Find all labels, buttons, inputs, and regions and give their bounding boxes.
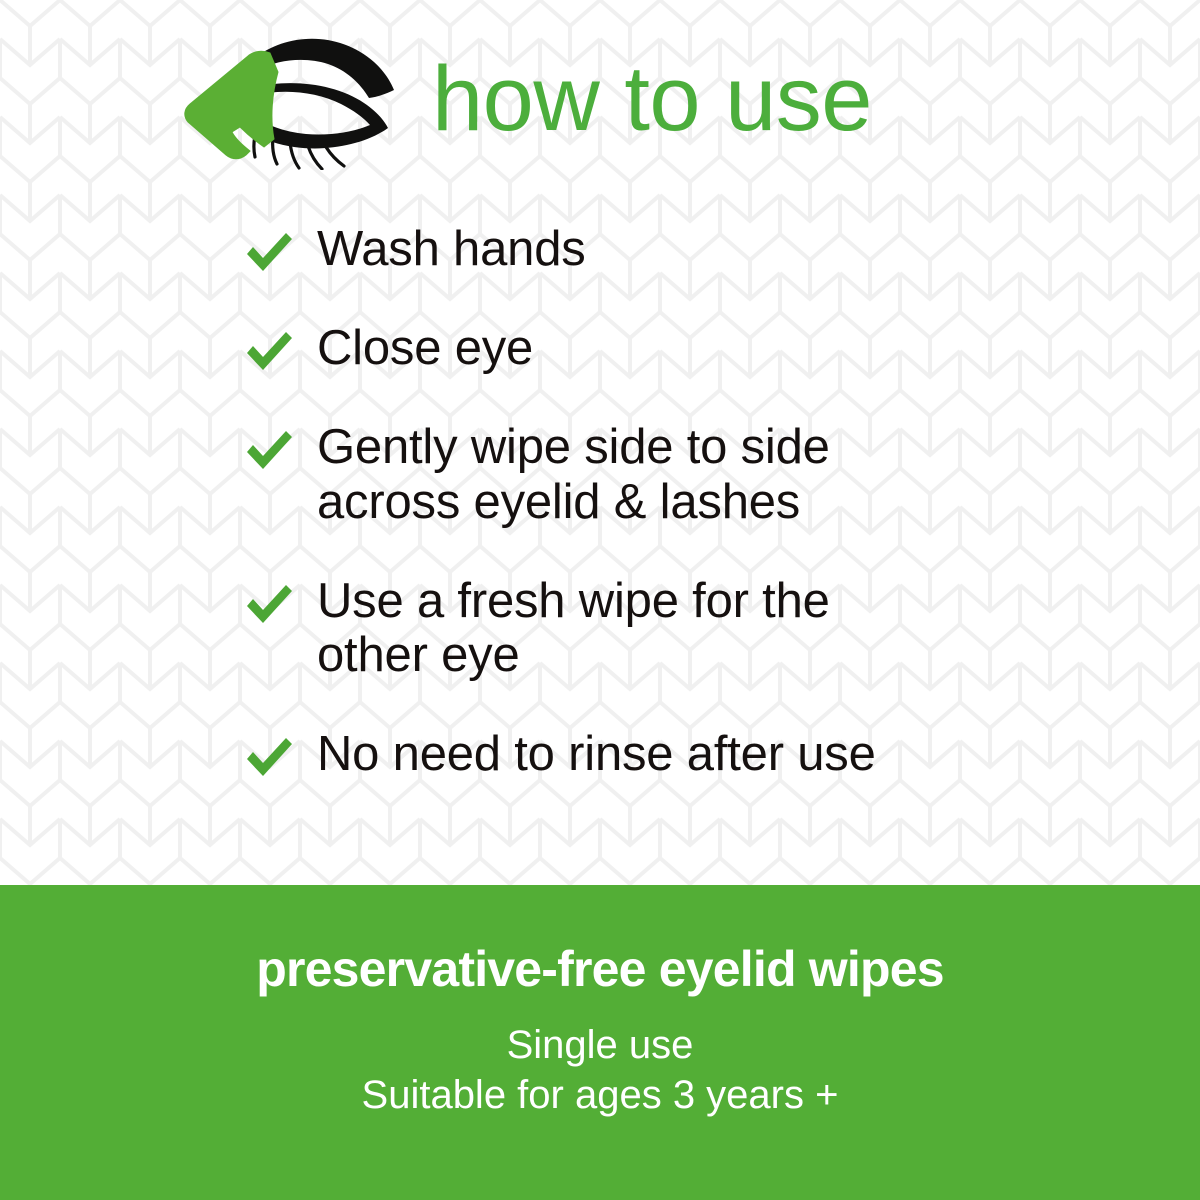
list-item-label: Close eye (317, 321, 533, 376)
list-item: No need to rinse after use (243, 727, 1003, 782)
page-title: how to use (432, 53, 872, 145)
footer-subtext-line-2: Suitable for ages 3 years + (0, 1070, 1200, 1120)
check-icon (243, 428, 295, 474)
eyelid-wipe-eye-logo (178, 28, 410, 170)
list-item: Gently wipe side to side across eyelid &… (243, 420, 1003, 530)
list-item-label: Wash hands (317, 222, 586, 277)
product-footer-banner: preservative-free eyelid wipes Single us… (0, 885, 1200, 1200)
check-icon (243, 735, 295, 781)
footer-subtext-line-1: Single use (0, 1020, 1200, 1070)
check-icon (243, 329, 295, 375)
list-item: Wash hands (243, 222, 1003, 277)
instruction-list: Wash hands Close eye Gently wipe side to… (243, 222, 1003, 782)
list-item-label: No need to rinse after use (317, 727, 876, 782)
instructions-section: how to use Wash hands Close eye Gen (0, 0, 1200, 885)
list-item: Close eye (243, 321, 1003, 376)
check-icon (243, 582, 295, 628)
header: how to use (178, 28, 872, 170)
footer-headline: preservative-free eyelid wipes (0, 943, 1200, 996)
how-to-use-panel: how to use Wash hands Close eye Gen (0, 0, 1200, 1200)
list-item-label: Gently wipe side to side across eyelid &… (317, 420, 830, 530)
list-item: Use a fresh wipe for the other eye (243, 574, 1003, 684)
footer-subtext: Single use Suitable for ages 3 years + (0, 1020, 1200, 1120)
check-icon (243, 230, 295, 276)
list-item-label: Use a fresh wipe for the other eye (317, 574, 830, 684)
